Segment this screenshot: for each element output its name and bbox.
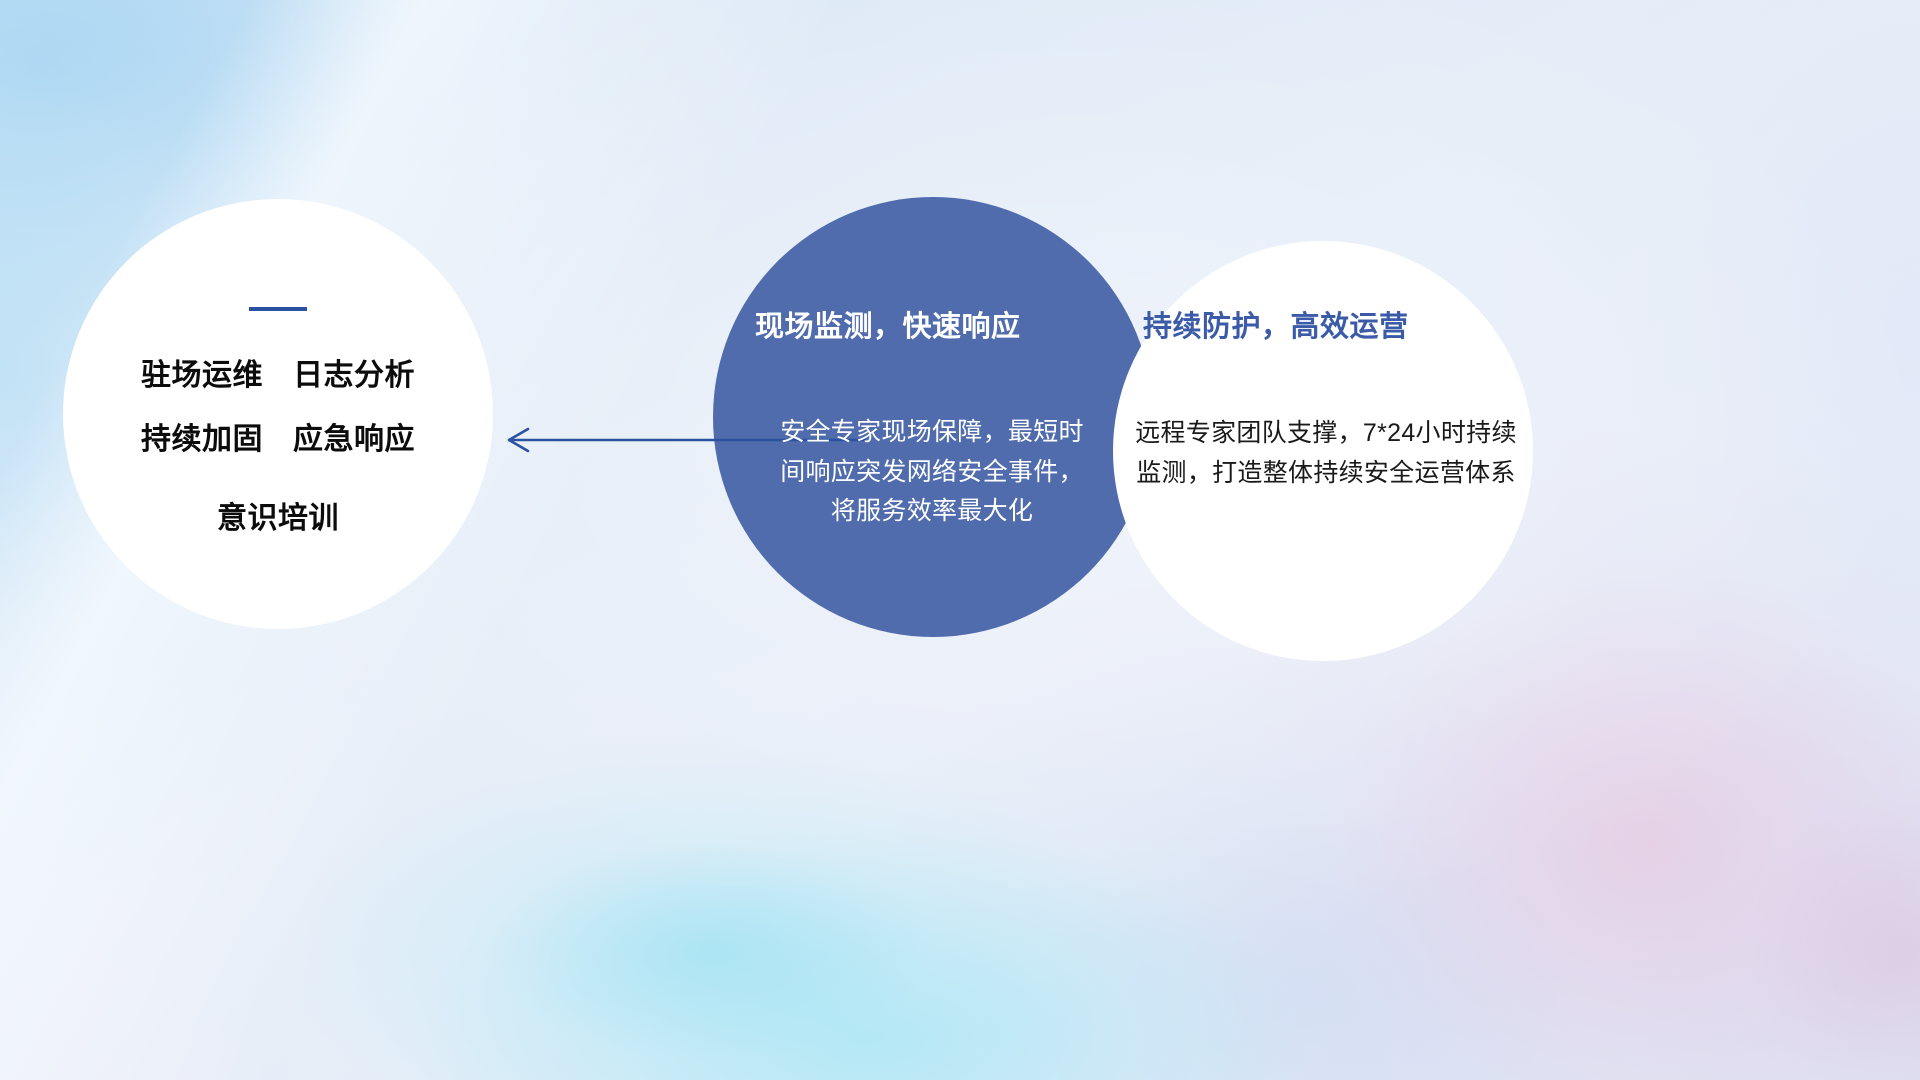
continuous-protection-body: 远程专家团队支撑，7*24小时持续监测，打造整体持续安全运营体系 <box>1131 413 1521 493</box>
capabilities-circle-content: 驻场运维 日志分析 持续加固 应急响应 意识培训 <box>63 199 493 629</box>
continuous-protection-circle-content: 持续防护，高效运营 远程专家团队支撑，7*24小时持续监测，打造整体持续安全运营… <box>1113 241 1533 661</box>
onsite-monitoring-circle-content: 现场监测，快速响应 安全专家现场保障，最短时间响应突发网络安全事件，将服务效率最… <box>713 197 1153 637</box>
capability-item-onsite-ops: 驻场运维 <box>141 359 263 392</box>
capability-item-emergency-response: 应急响应 <box>293 423 415 456</box>
capability-item-awareness-training: 意识培训 <box>217 493 339 537</box>
onsite-monitoring-title: 现场监测，快速响应 <box>755 303 1155 345</box>
onsite-monitoring-body: 安全专家现场保障，最短时间响应突发网络安全事件，将服务效率最大化 <box>773 413 1091 532</box>
continuous-protection-title: 持续防护，高效运营 <box>1143 303 1543 345</box>
divider-dash <box>249 307 307 311</box>
capability-row-2: 持续加固 应急响应 <box>141 423 415 456</box>
capability-row-1: 驻场运维 日志分析 <box>141 359 415 392</box>
slide-canvas: 驻场运维 日志分析 持续加固 应急响应 意识培训 现场监测，快速响应 安全专家现… <box>0 0 1920 1080</box>
capability-item-hardening: 持续加固 <box>141 423 263 456</box>
capability-item-log-analysis: 日志分析 <box>293 359 415 392</box>
